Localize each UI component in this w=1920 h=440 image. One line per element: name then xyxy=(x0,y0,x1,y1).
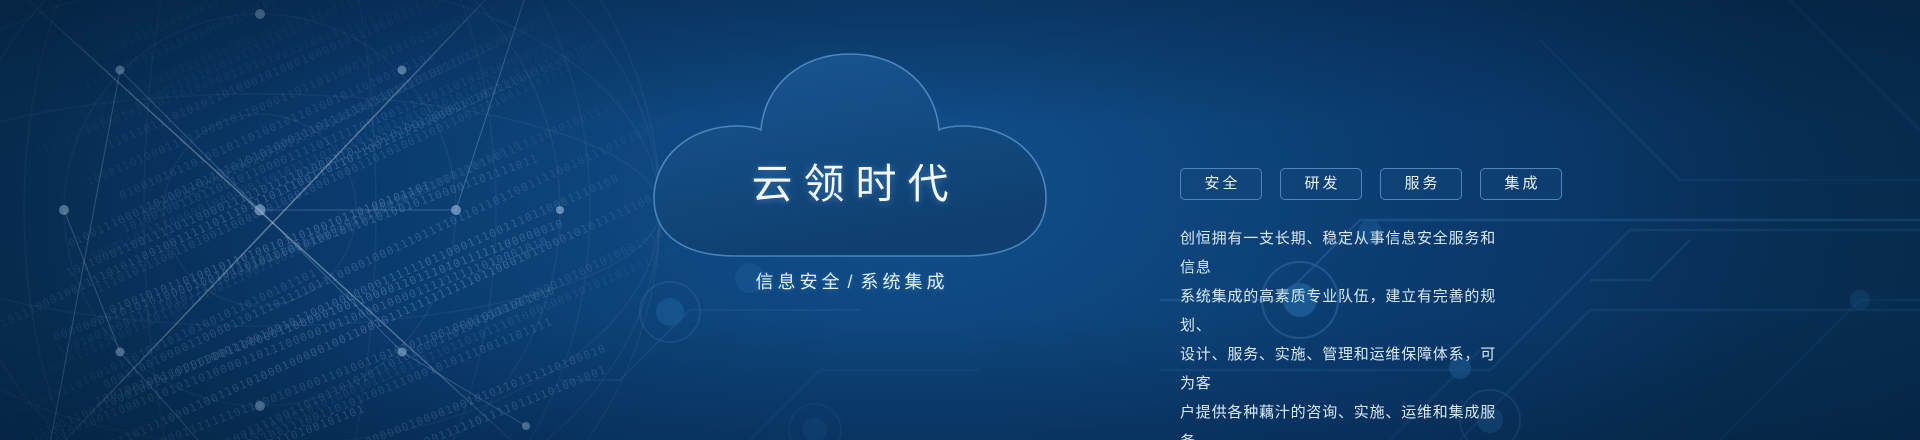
tagline-left: 信息安全 xyxy=(755,272,843,292)
tag-row: 安全 研发 服务 集成 xyxy=(1180,168,1580,200)
info-column: 安全 研发 服务 集成 创恒拥有一支长期、稳定从事信息安全服务和信息 系统集成的… xyxy=(1180,168,1580,440)
description-line: 系统集成的高素质专业队伍，建立有完善的规划、 xyxy=(1180,282,1510,340)
tag-rnd[interactable]: 研发 xyxy=(1280,168,1362,200)
tagline-right: 系统集成 xyxy=(861,272,949,292)
tag-service[interactable]: 服务 xyxy=(1380,168,1462,200)
logo-title: 云领时代 xyxy=(640,150,1060,210)
description-line: 设计、服务、实施、管理和运维保障体系，可为客 xyxy=(1180,340,1510,398)
tagline-separator: / xyxy=(843,272,860,292)
tag-security[interactable]: 安全 xyxy=(1180,168,1262,200)
description-text: 创恒拥有一支长期、稳定从事信息安全服务和信息 系统集成的高素质专业队伍，建立有完… xyxy=(1180,224,1510,440)
description-line: 创恒拥有一支长期、稳定从事信息安全服务和信息 xyxy=(1180,224,1510,282)
logo-tagline: 信息安全/系统集成 xyxy=(640,268,1060,294)
hero-banner: 0100101011010010110100101101001011010010… xyxy=(0,0,1920,440)
logo-block: 云领时代 信息安全/系统集成 xyxy=(640,46,1060,306)
description-line: 户提供各种藕汁的咨询、实施、运维和集成服务 xyxy=(1180,398,1510,440)
tag-integration[interactable]: 集成 xyxy=(1480,168,1562,200)
